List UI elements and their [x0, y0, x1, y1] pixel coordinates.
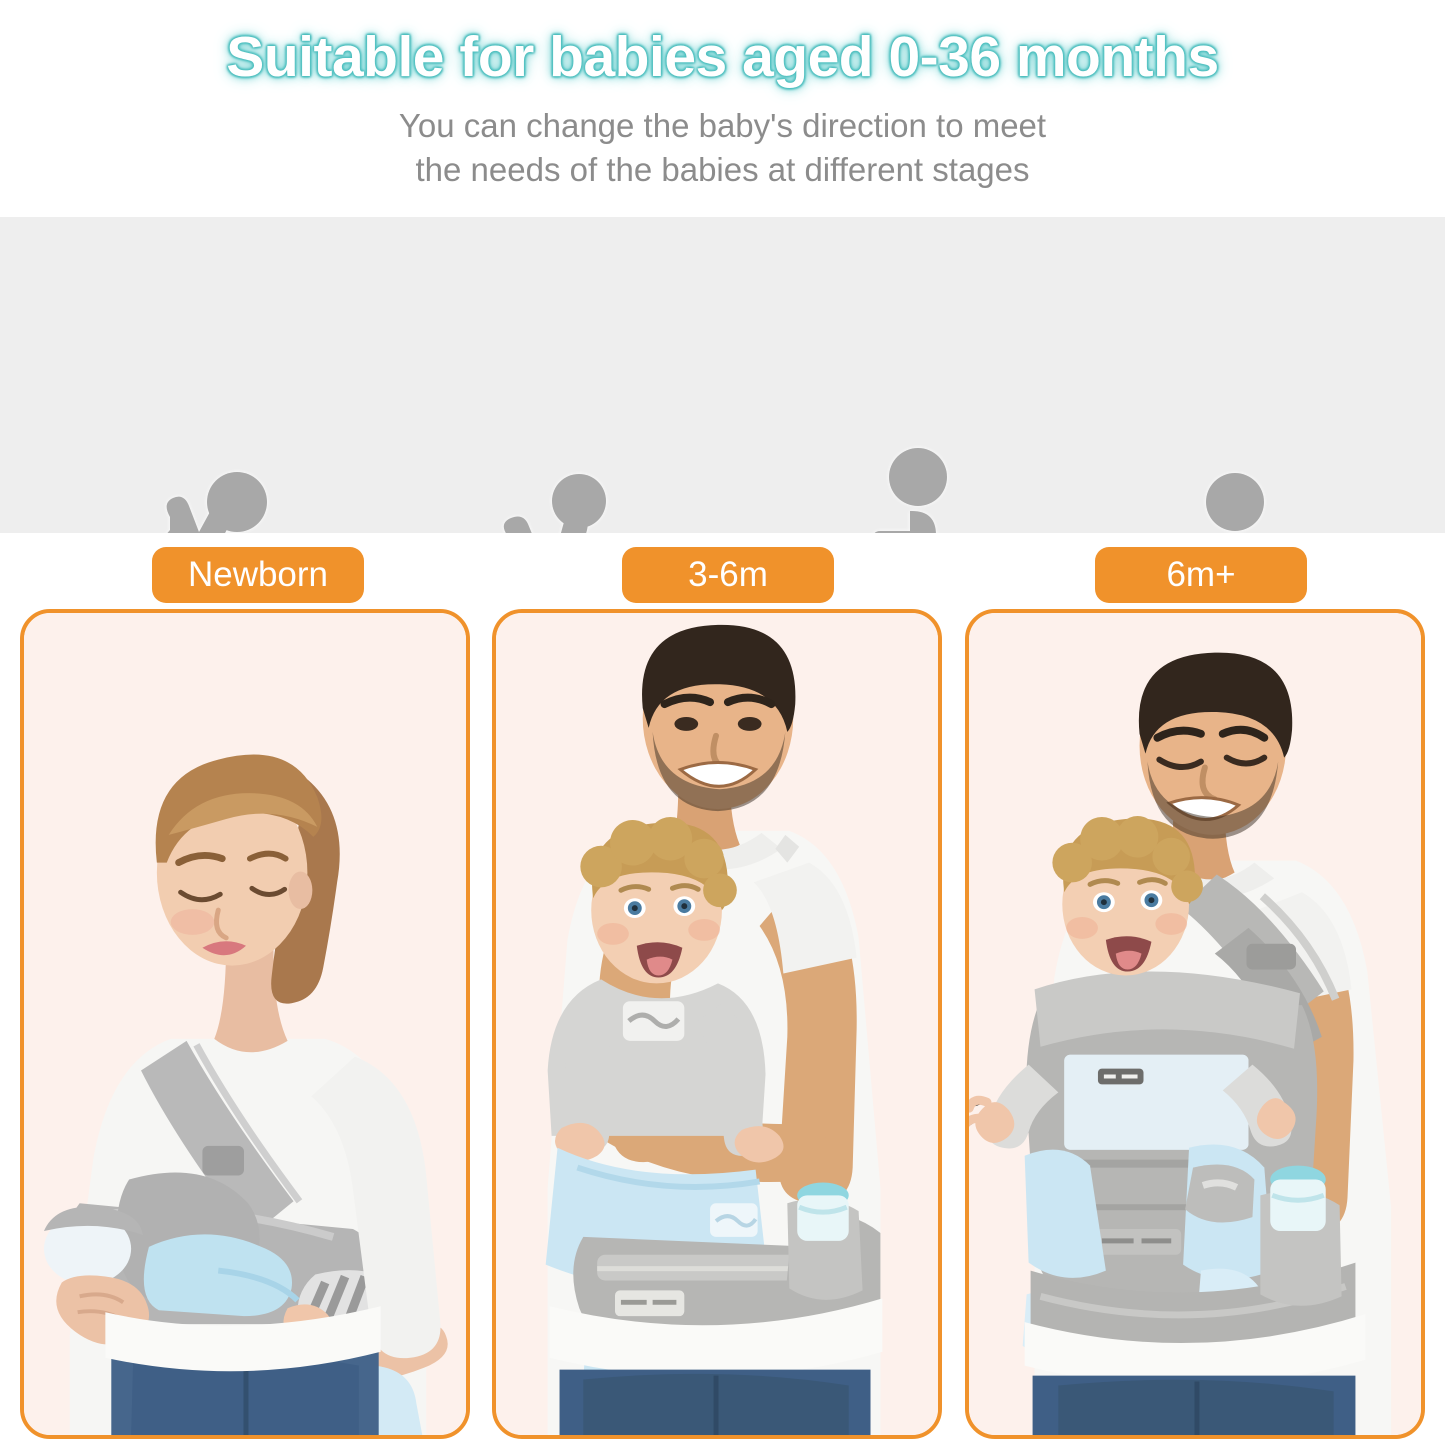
badge-label: 6m+: [1166, 555, 1235, 595]
photo-panel-6m-plus: [965, 609, 1425, 1439]
badge-label: 3-6m: [688, 555, 768, 595]
badge-newborn: Newborn: [152, 547, 364, 603]
age-timeline-section: 0 3 6 12 16 Newborn 0~3m Baby looking up…: [0, 217, 1445, 533]
subtitle-line-1: You can change the baby's direction to m…: [0, 104, 1445, 148]
badge-label: Newborn: [188, 555, 328, 595]
subtitle-line-2: the needs of the babies at different sta…: [0, 148, 1445, 192]
photo-newborn: [24, 613, 466, 1435]
photo-panel-3-6m: [492, 609, 942, 1439]
usage-photos-section: Newborn 3-6m 6m+: [0, 533, 1445, 1445]
subtitle: You can change the baby's direction to m…: [0, 104, 1445, 192]
badge-3-6m: 3-6m: [622, 547, 834, 603]
photo-3-6m: [496, 613, 938, 1435]
header-section: Suitable for babies aged 0-36 months You…: [0, 0, 1445, 217]
photo-panel-newborn: [20, 609, 470, 1439]
page-title: Suitable for babies aged 0-36 months: [0, 24, 1445, 90]
badge-6m-plus: 6m+: [1095, 547, 1307, 603]
photo-6m-plus: [969, 613, 1421, 1435]
